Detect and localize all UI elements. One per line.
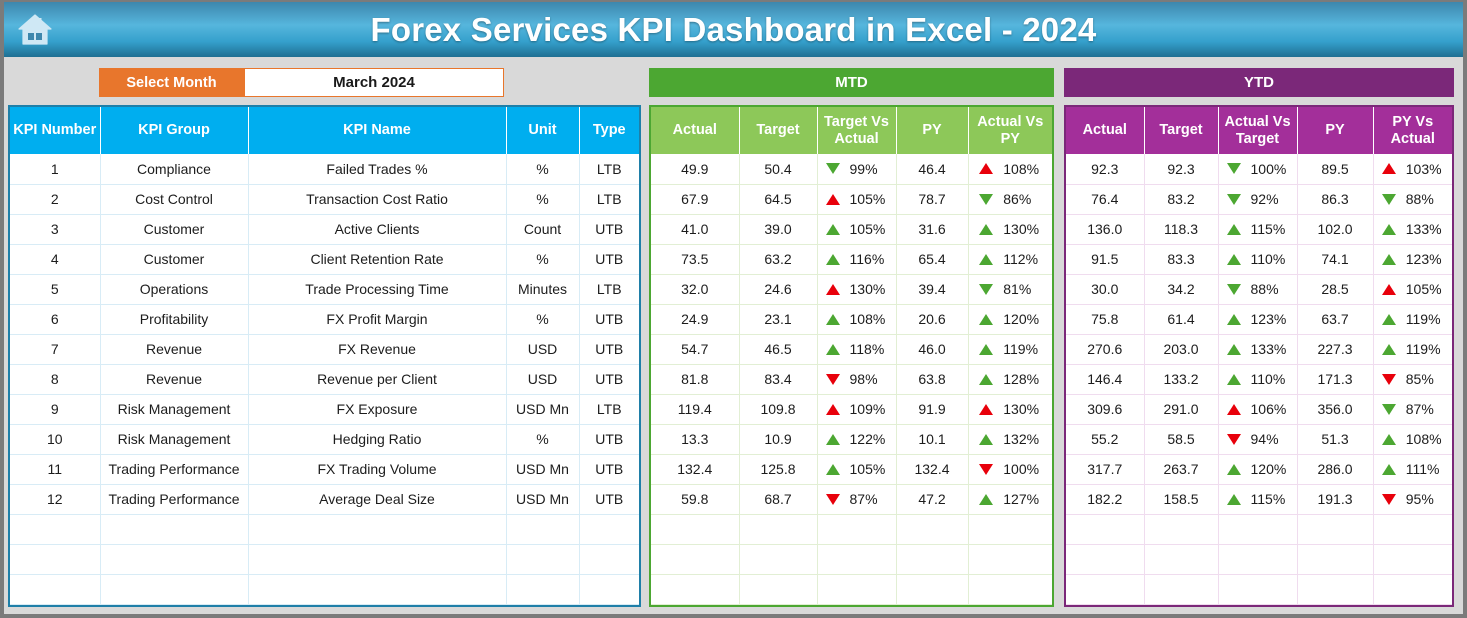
- table-row[interactable]: 10Risk ManagementHedging Ratio%UTB: [10, 424, 639, 454]
- cell-kpi-group[interactable]: Cost Control: [100, 184, 248, 214]
- col-kpi-number[interactable]: KPI Number: [10, 107, 100, 154]
- cell-ytd-actual-vs-target[interactable]: 92%: [1218, 184, 1297, 214]
- cell-ytd-actual[interactable]: 317.7: [1066, 454, 1144, 484]
- table-row[interactable]: 2Cost ControlTransaction Cost Ratio%LTB: [10, 184, 639, 214]
- cell-kpi-group[interactable]: Risk Management: [100, 394, 248, 424]
- cell-mtd-actual[interactable]: 119.4: [651, 394, 739, 424]
- cell-mtd-py[interactable]: 31.6: [896, 214, 968, 244]
- empty-cell: [651, 574, 739, 604]
- triangle-up-icon: [979, 344, 993, 355]
- percent-value: 115%: [1251, 491, 1289, 507]
- cell-ytd-target[interactable]: 291.0: [1144, 394, 1218, 424]
- percent-value: 108%: [1406, 431, 1444, 447]
- col-mtd-target[interactable]: Target: [739, 107, 817, 154]
- cell-ytd-py[interactable]: 86.3: [1297, 184, 1373, 214]
- cell-mtd-actual-vs-py[interactable]: 127%: [968, 484, 1052, 514]
- empty-cell: [100, 514, 248, 544]
- cell-unit[interactable]: %: [506, 244, 579, 274]
- cell-mtd-py[interactable]: 10.1: [896, 424, 968, 454]
- triangle-up-icon: [1382, 434, 1396, 445]
- cell-unit[interactable]: Minutes: [506, 274, 579, 304]
- triangle-up-icon: [1227, 314, 1241, 325]
- cell-type[interactable]: UTB: [579, 364, 639, 394]
- col-kpi-name[interactable]: KPI Name: [248, 107, 506, 154]
- table-row[interactable]: 132.4125.8105%132.4100%: [651, 454, 1052, 484]
- cell-ytd-py[interactable]: 51.3: [1297, 424, 1373, 454]
- cell-mtd-actual[interactable]: 13.3: [651, 424, 739, 454]
- cell-kpi-group[interactable]: Revenue: [100, 334, 248, 364]
- cell-ytd-py[interactable]: 227.3: [1297, 334, 1373, 364]
- empty-cell: [579, 574, 639, 604]
- cell-unit[interactable]: %: [506, 154, 579, 184]
- table-row[interactable]: 8RevenueRevenue per ClientUSDUTB: [10, 364, 639, 394]
- cell-kpi-name[interactable]: FX Trading Volume: [248, 454, 506, 484]
- table-row[interactable]: 309.6291.0106%356.087%: [1066, 394, 1452, 424]
- percent-value: 112%: [1003, 251, 1041, 267]
- empty-cell: [579, 544, 639, 574]
- cell-ytd-target[interactable]: 263.7: [1144, 454, 1218, 484]
- cell-mtd-py[interactable]: 39.4: [896, 274, 968, 304]
- cell-type[interactable]: LTB: [579, 184, 639, 214]
- col-kpi-group[interactable]: KPI Group: [100, 107, 248, 154]
- col-mtd-actual[interactable]: Actual: [651, 107, 739, 154]
- cell-kpi-number[interactable]: 10: [10, 424, 100, 454]
- triangle-down-icon: [979, 194, 993, 205]
- cell-ytd-py-vs-actual[interactable]: 119%: [1373, 334, 1452, 364]
- ytd-table: Actual Target Actual Vs Target PY PY Vs …: [1064, 105, 1454, 607]
- cell-kpi-number[interactable]: 1: [10, 154, 100, 184]
- cell-mtd-py[interactable]: 47.2: [896, 484, 968, 514]
- col-ytd-py[interactable]: PY: [1297, 107, 1373, 154]
- left-header-row: KPI Number KPI Group KPI Name Unit Type: [10, 107, 639, 154]
- table-row[interactable]: 91.583.3110%74.1123%: [1066, 244, 1452, 274]
- table-row[interactable]: 67.964.5105%78.786%: [651, 184, 1052, 214]
- percent-value: 105%: [1406, 281, 1444, 297]
- cell-kpi-name[interactable]: FX Revenue: [248, 334, 506, 364]
- cell-mtd-py[interactable]: 20.6: [896, 304, 968, 334]
- percent-value: 100%: [1003, 461, 1041, 477]
- triangle-up-icon: [1382, 284, 1396, 295]
- cell-unit[interactable]: %: [506, 184, 579, 214]
- table-row[interactable]: 30.034.288%28.5105%: [1066, 274, 1452, 304]
- cell-kpi-name[interactable]: Transaction Cost Ratio: [248, 184, 506, 214]
- triangle-up-icon: [1227, 344, 1241, 355]
- cell-type[interactable]: UTB: [579, 334, 639, 364]
- table-row[interactable]: 75.861.4123%63.7119%: [1066, 304, 1452, 334]
- cell-kpi-name[interactable]: Active Clients: [248, 214, 506, 244]
- cell-unit[interactable]: USD Mn: [506, 394, 579, 424]
- cell-ytd-py-vs-actual[interactable]: 87%: [1373, 394, 1452, 424]
- cell-ytd-py-vs-actual[interactable]: 95%: [1373, 484, 1452, 514]
- cell-unit[interactable]: Count: [506, 214, 579, 244]
- cell-kpi-number[interactable]: 5: [10, 274, 100, 304]
- table-row[interactable]: 119.4109.8109%91.9130%: [651, 394, 1052, 424]
- cell-mtd-actual[interactable]: 59.8: [651, 484, 739, 514]
- cell-kpi-name[interactable]: Revenue per Client: [248, 364, 506, 394]
- cell-mtd-actual[interactable]: 132.4: [651, 454, 739, 484]
- cell-ytd-py-vs-actual[interactable]: 111%: [1373, 454, 1452, 484]
- cell-mtd-actual-vs-py[interactable]: 108%: [968, 154, 1052, 184]
- cell-ytd-actual[interactable]: 270.6: [1066, 334, 1144, 364]
- empty-cell: [651, 544, 739, 574]
- page-title: Forex Services KPI Dashboard in Excel - …: [66, 11, 1463, 49]
- cell-mtd-target-vs-actual[interactable]: 109%: [817, 394, 896, 424]
- col-type[interactable]: Type: [579, 107, 639, 154]
- cell-ytd-py[interactable]: 102.0: [1297, 214, 1373, 244]
- cell-ytd-py[interactable]: 89.5: [1297, 154, 1373, 184]
- table-row[interactable]: 32.024.6130%39.481%: [651, 274, 1052, 304]
- cell-kpi-name[interactable]: FX Exposure: [248, 394, 506, 424]
- cell-mtd-target-vs-actual[interactable]: 122%: [817, 424, 896, 454]
- triangle-down-icon: [1382, 404, 1396, 415]
- cell-mtd-actual[interactable]: 81.8: [651, 364, 739, 394]
- triangle-up-icon: [979, 163, 993, 174]
- ytd-band-label: YTD: [1064, 68, 1454, 97]
- cell-mtd-target-vs-actual[interactable]: 105%: [817, 214, 896, 244]
- percent-value: 105%: [850, 191, 888, 207]
- cell-ytd-actual-vs-target[interactable]: 94%: [1218, 424, 1297, 454]
- cell-ytd-target[interactable]: 34.2: [1144, 274, 1218, 304]
- cell-kpi-number[interactable]: 4: [10, 244, 100, 274]
- table-row[interactable]: 41.039.0105%31.6130%: [651, 214, 1052, 244]
- cell-kpi-number[interactable]: 9: [10, 394, 100, 424]
- table-row[interactable]: 24.923.1108%20.6120%: [651, 304, 1052, 334]
- table-row[interactable]: 9Risk ManagementFX ExposureUSD MnLTB: [10, 394, 639, 424]
- cell-kpi-group[interactable]: Trading Performance: [100, 484, 248, 514]
- cell-kpi-group[interactable]: Customer: [100, 214, 248, 244]
- cell-ytd-actual-vs-target[interactable]: 120%: [1218, 454, 1297, 484]
- triangle-up-icon: [826, 194, 840, 205]
- cell-ytd-py-vs-actual[interactable]: 123%: [1373, 244, 1452, 274]
- cell-ytd-py[interactable]: 286.0: [1297, 454, 1373, 484]
- cell-ytd-py[interactable]: 74.1: [1297, 244, 1373, 274]
- cell-mtd-actual-vs-py[interactable]: 130%: [968, 394, 1052, 424]
- table-row[interactable]: 317.7263.7120%286.0111%: [1066, 454, 1452, 484]
- percent-value: 133%: [1251, 341, 1289, 357]
- cell-ytd-actual-vs-target[interactable]: 115%: [1218, 214, 1297, 244]
- cell-mtd-actual-vs-py[interactable]: 130%: [968, 214, 1052, 244]
- cell-mtd-target[interactable]: 68.7: [739, 484, 817, 514]
- table-row[interactable]: 11Trading PerformanceFX Trading VolumeUS…: [10, 454, 639, 484]
- cell-mtd-actual[interactable]: 24.9: [651, 304, 739, 334]
- cell-mtd-target[interactable]: 63.2: [739, 244, 817, 274]
- percent-value: 127%: [1003, 491, 1041, 507]
- percent-value: 87%: [850, 491, 888, 507]
- cell-type[interactable]: UTB: [579, 454, 639, 484]
- table-row[interactable]: 1ComplianceFailed Trades %%LTB: [10, 154, 639, 184]
- cell-unit[interactable]: USD: [506, 334, 579, 364]
- triangle-up-icon: [979, 374, 993, 385]
- percent-value: 119%: [1406, 311, 1444, 327]
- cell-kpi-number[interactable]: 2: [10, 184, 100, 214]
- cell-mtd-target-vs-actual[interactable]: 105%: [817, 184, 896, 214]
- cell-mtd-py[interactable]: 46.4: [896, 154, 968, 184]
- cell-kpi-group[interactable]: Revenue: [100, 364, 248, 394]
- cell-unit[interactable]: USD Mn: [506, 484, 579, 514]
- cell-kpi-number[interactable]: 7: [10, 334, 100, 364]
- dashboard-root: Forex Services KPI Dashboard in Excel - …: [0, 0, 1467, 618]
- triangle-up-icon: [1382, 464, 1396, 475]
- cell-type[interactable]: UTB: [579, 424, 639, 454]
- cell-ytd-actual-vs-target[interactable]: 100%: [1218, 154, 1297, 184]
- cell-ytd-actual-vs-target[interactable]: 106%: [1218, 394, 1297, 424]
- empty-cell: [100, 574, 248, 604]
- cell-mtd-actual[interactable]: 41.0: [651, 214, 739, 244]
- cell-kpi-group[interactable]: Profitability: [100, 304, 248, 334]
- col-mtd-py[interactable]: PY: [896, 107, 968, 154]
- cell-ytd-actual[interactable]: 309.6: [1066, 394, 1144, 424]
- cell-type[interactable]: UTB: [579, 484, 639, 514]
- cell-mtd-target[interactable]: 46.5: [739, 334, 817, 364]
- cell-mtd-py[interactable]: 91.9: [896, 394, 968, 424]
- cell-mtd-actual[interactable]: 73.5: [651, 244, 739, 274]
- table-row[interactable]: 12Trading PerformanceAverage Deal SizeUS…: [10, 484, 639, 514]
- table-row[interactable]: 92.392.3100%89.5103%: [1066, 154, 1452, 184]
- percent-value: 87%: [1406, 401, 1444, 417]
- cell-mtd-target-vs-actual[interactable]: 99%: [817, 154, 896, 184]
- table-row[interactable]: 59.868.787%47.2127%: [651, 484, 1052, 514]
- col-mtd-actual-vs-py[interactable]: Actual Vs PY: [968, 107, 1052, 154]
- cell-ytd-py[interactable]: 171.3: [1297, 364, 1373, 394]
- cell-mtd-py[interactable]: 46.0: [896, 334, 968, 364]
- triangle-down-icon: [826, 494, 840, 505]
- cell-mtd-target-vs-actual[interactable]: 130%: [817, 274, 896, 304]
- cell-type[interactable]: LTB: [579, 394, 639, 424]
- cell-mtd-target[interactable]: 64.5: [739, 184, 817, 214]
- cell-ytd-target[interactable]: 58.5: [1144, 424, 1218, 454]
- cell-ytd-target[interactable]: 203.0: [1144, 334, 1218, 364]
- percent-value: 109%: [850, 401, 888, 417]
- cell-kpi-number[interactable]: 8: [10, 364, 100, 394]
- cell-ytd-actual[interactable]: 146.4: [1066, 364, 1144, 394]
- cell-unit[interactable]: %: [506, 304, 579, 334]
- cell-kpi-group[interactable]: Trading Performance: [100, 454, 248, 484]
- cell-kpi-name[interactable]: Average Deal Size: [248, 484, 506, 514]
- table-row[interactable]: 3CustomerActive ClientsCountUTB: [10, 214, 639, 244]
- table-row[interactable]: 5OperationsTrade Processing TimeMinutesL…: [10, 274, 639, 304]
- cell-ytd-py[interactable]: 191.3: [1297, 484, 1373, 514]
- cell-mtd-actual-vs-py[interactable]: 132%: [968, 424, 1052, 454]
- cell-ytd-py-vs-actual[interactable]: 108%: [1373, 424, 1452, 454]
- percent-value: 92%: [1251, 191, 1289, 207]
- percent-value: 99%: [850, 161, 888, 177]
- cell-ytd-py-vs-actual[interactable]: 133%: [1373, 214, 1452, 244]
- cell-mtd-target[interactable]: 50.4: [739, 154, 817, 184]
- empty-cell: [968, 574, 1052, 604]
- cell-mtd-target-vs-actual[interactable]: 98%: [817, 364, 896, 394]
- cell-ytd-target[interactable]: 83.2: [1144, 184, 1218, 214]
- cell-ytd-py[interactable]: 63.7: [1297, 304, 1373, 334]
- table-row-empty: [10, 544, 639, 574]
- cell-type[interactable]: UTB: [579, 214, 639, 244]
- cell-mtd-actual-vs-py[interactable]: 128%: [968, 364, 1052, 394]
- cell-type[interactable]: UTB: [579, 304, 639, 334]
- cell-mtd-target-vs-actual[interactable]: 87%: [817, 484, 896, 514]
- cell-kpi-group[interactable]: Risk Management: [100, 424, 248, 454]
- cell-unit[interactable]: USD Mn: [506, 454, 579, 484]
- triangle-down-icon: [1382, 374, 1396, 385]
- cell-kpi-name[interactable]: Hedging Ratio: [248, 424, 506, 454]
- col-ytd-py-vs-actual[interactable]: PY Vs Actual: [1373, 107, 1452, 154]
- table-row-empty: [1066, 544, 1452, 574]
- cell-type[interactable]: UTB: [579, 244, 639, 274]
- cell-mtd-actual-vs-py[interactable]: 119%: [968, 334, 1052, 364]
- triangle-down-icon: [1382, 194, 1396, 205]
- table-row[interactable]: 270.6203.0133%227.3119%: [1066, 334, 1452, 364]
- percent-value: 133%: [1406, 221, 1444, 237]
- month-value-input[interactable]: March 2024: [244, 68, 504, 97]
- cell-ytd-py-vs-actual[interactable]: 105%: [1373, 274, 1452, 304]
- cell-ytd-target[interactable]: 133.2: [1144, 364, 1218, 394]
- cell-ytd-target[interactable]: 92.3: [1144, 154, 1218, 184]
- cell-ytd-actual[interactable]: 182.2: [1066, 484, 1144, 514]
- cell-unit[interactable]: USD: [506, 364, 579, 394]
- cell-kpi-name[interactable]: Failed Trades %: [248, 154, 506, 184]
- cell-ytd-actual-vs-target[interactable]: 110%: [1218, 244, 1297, 274]
- cell-ytd-actual-vs-target[interactable]: 88%: [1218, 274, 1297, 304]
- table-row[interactable]: 136.0118.3115%102.0133%: [1066, 214, 1452, 244]
- triangle-up-icon: [826, 464, 840, 475]
- cell-mtd-actual-vs-py[interactable]: 86%: [968, 184, 1052, 214]
- cell-ytd-py-vs-actual[interactable]: 119%: [1373, 304, 1452, 334]
- cell-ytd-actual[interactable]: 76.4: [1066, 184, 1144, 214]
- triangle-down-icon: [826, 374, 840, 385]
- table-row[interactable]: 54.746.5118%46.0119%: [651, 334, 1052, 364]
- cell-ytd-target[interactable]: 118.3: [1144, 214, 1218, 244]
- triangle-up-icon: [1227, 464, 1241, 475]
- cell-ytd-actual[interactable]: 136.0: [1066, 214, 1144, 244]
- cell-ytd-actual[interactable]: 91.5: [1066, 244, 1144, 274]
- triangle-up-icon: [826, 404, 840, 415]
- table-row[interactable]: 13.310.9122%10.1132%: [651, 424, 1052, 454]
- cell-type[interactable]: LTB: [579, 154, 639, 184]
- col-ytd-actual-vs-target[interactable]: Actual Vs Target: [1218, 107, 1297, 154]
- cell-mtd-target[interactable]: 39.0: [739, 214, 817, 244]
- cell-kpi-number[interactable]: 11: [10, 454, 100, 484]
- triangle-up-icon: [979, 254, 993, 265]
- cell-kpi-name[interactable]: Client Retention Rate: [248, 244, 506, 274]
- cell-ytd-target[interactable]: 61.4: [1144, 304, 1218, 334]
- empty-cell: [10, 514, 100, 544]
- table-row[interactable]: 7RevenueFX RevenueUSDUTB: [10, 334, 639, 364]
- table-row[interactable]: 49.950.499%46.4108%: [651, 154, 1052, 184]
- cell-kpi-number[interactable]: 12: [10, 484, 100, 514]
- cell-ytd-target[interactable]: 158.5: [1144, 484, 1218, 514]
- percent-value: 130%: [1003, 401, 1041, 417]
- cell-mtd-target-vs-actual[interactable]: 116%: [817, 244, 896, 274]
- col-ytd-target[interactable]: Target: [1144, 107, 1218, 154]
- empty-cell: [1218, 514, 1297, 544]
- col-mtd-target-vs-actual[interactable]: Target Vs Actual: [817, 107, 896, 154]
- cell-ytd-py[interactable]: 28.5: [1297, 274, 1373, 304]
- cell-mtd-actual-vs-py[interactable]: 112%: [968, 244, 1052, 274]
- table-row[interactable]: 4CustomerClient Retention Rate%UTB: [10, 244, 639, 274]
- cell-mtd-actual[interactable]: 67.9: [651, 184, 739, 214]
- cell-kpi-group[interactable]: Operations: [100, 274, 248, 304]
- cell-mtd-target[interactable]: 125.8: [739, 454, 817, 484]
- cell-ytd-py[interactable]: 356.0: [1297, 394, 1373, 424]
- cell-ytd-target[interactable]: 83.3: [1144, 244, 1218, 274]
- cell-ytd-actual-vs-target[interactable]: 110%: [1218, 364, 1297, 394]
- table-row[interactable]: 182.2158.5115%191.395%: [1066, 484, 1452, 514]
- cell-unit[interactable]: %: [506, 424, 579, 454]
- cell-mtd-actual[interactable]: 54.7: [651, 334, 739, 364]
- cell-mtd-target[interactable]: 109.8: [739, 394, 817, 424]
- percent-value: 108%: [1003, 161, 1041, 177]
- cell-mtd-actual[interactable]: 49.9: [651, 154, 739, 184]
- cell-kpi-name[interactable]: FX Profit Margin: [248, 304, 506, 334]
- cell-mtd-py[interactable]: 132.4: [896, 454, 968, 484]
- percent-value: 115%: [1251, 221, 1289, 237]
- empty-cell: [1144, 514, 1218, 544]
- table-row[interactable]: 73.563.2116%65.4112%: [651, 244, 1052, 274]
- cell-ytd-actual-vs-target[interactable]: 115%: [1218, 484, 1297, 514]
- cell-mtd-target[interactable]: 10.9: [739, 424, 817, 454]
- empty-cell: [817, 574, 896, 604]
- cell-mtd-target[interactable]: 24.6: [739, 274, 817, 304]
- cell-kpi-name[interactable]: Trade Processing Time: [248, 274, 506, 304]
- cell-ytd-py-vs-actual[interactable]: 88%: [1373, 184, 1452, 214]
- cell-mtd-target[interactable]: 83.4: [739, 364, 817, 394]
- cell-kpi-number[interactable]: 6: [10, 304, 100, 334]
- cell-mtd-target-vs-actual[interactable]: 118%: [817, 334, 896, 364]
- table-row[interactable]: 146.4133.2110%171.385%: [1066, 364, 1452, 394]
- cell-mtd-py[interactable]: 78.7: [896, 184, 968, 214]
- cell-mtd-target-vs-actual[interactable]: 108%: [817, 304, 896, 334]
- col-ytd-actual[interactable]: Actual: [1066, 107, 1144, 154]
- table-row[interactable]: 81.883.498%63.8128%: [651, 364, 1052, 394]
- cell-mtd-target-vs-actual[interactable]: 105%: [817, 454, 896, 484]
- cell-kpi-number[interactable]: 3: [10, 214, 100, 244]
- percent-value: 100%: [1251, 161, 1289, 177]
- percent-value: 106%: [1251, 401, 1289, 417]
- cell-mtd-py[interactable]: 63.8: [896, 364, 968, 394]
- cell-mtd-py[interactable]: 65.4: [896, 244, 968, 274]
- cell-type[interactable]: LTB: [579, 274, 639, 304]
- cell-ytd-actual-vs-target[interactable]: 123%: [1218, 304, 1297, 334]
- cell-ytd-actual[interactable]: 55.2: [1066, 424, 1144, 454]
- cell-ytd-py-vs-actual[interactable]: 85%: [1373, 364, 1452, 394]
- cell-ytd-actual-vs-target[interactable]: 133%: [1218, 334, 1297, 364]
- percent-value: 132%: [1003, 431, 1041, 447]
- empty-cell: [579, 514, 639, 544]
- cell-kpi-group[interactable]: Compliance: [100, 154, 248, 184]
- home-icon[interactable]: [4, 2, 66, 57]
- triangle-down-icon: [1227, 194, 1241, 205]
- triangle-up-icon: [826, 314, 840, 325]
- cell-mtd-target[interactable]: 23.1: [739, 304, 817, 334]
- empty-cell: [1373, 574, 1452, 604]
- cell-ytd-actual[interactable]: 92.3: [1066, 154, 1144, 184]
- table-row[interactable]: 55.258.594%51.3108%: [1066, 424, 1452, 454]
- kpi-definition-table: KPI Number KPI Group KPI Name Unit Type …: [8, 105, 641, 607]
- table-row[interactable]: 76.483.292%86.388%: [1066, 184, 1452, 214]
- cell-kpi-group[interactable]: Customer: [100, 244, 248, 274]
- cell-mtd-actual-vs-py[interactable]: 100%: [968, 454, 1052, 484]
- table-row[interactable]: 6ProfitabilityFX Profit Margin%UTB: [10, 304, 639, 334]
- cell-mtd-actual-vs-py[interactable]: 81%: [968, 274, 1052, 304]
- cell-ytd-actual[interactable]: 75.8: [1066, 304, 1144, 334]
- percent-value: 130%: [850, 281, 888, 297]
- col-unit[interactable]: Unit: [506, 107, 579, 154]
- cell-mtd-actual[interactable]: 32.0: [651, 274, 739, 304]
- empty-cell: [1066, 574, 1144, 604]
- percent-value: 86%: [1003, 191, 1041, 207]
- cell-mtd-actual-vs-py[interactable]: 120%: [968, 304, 1052, 334]
- cell-ytd-py-vs-actual[interactable]: 103%: [1373, 154, 1452, 184]
- select-month-button[interactable]: Select Month: [99, 68, 244, 97]
- cell-ytd-actual[interactable]: 30.0: [1066, 274, 1144, 304]
